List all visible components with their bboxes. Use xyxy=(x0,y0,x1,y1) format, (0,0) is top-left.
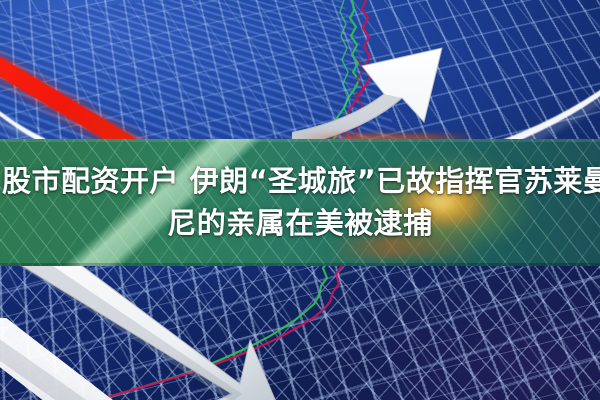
banner-image: 股市配资开户 伊朗“圣城旅”已故指挥官苏莱曼 尼的亲属在美被逮捕 xyxy=(0,0,600,400)
vignette-overlay xyxy=(0,0,600,400)
